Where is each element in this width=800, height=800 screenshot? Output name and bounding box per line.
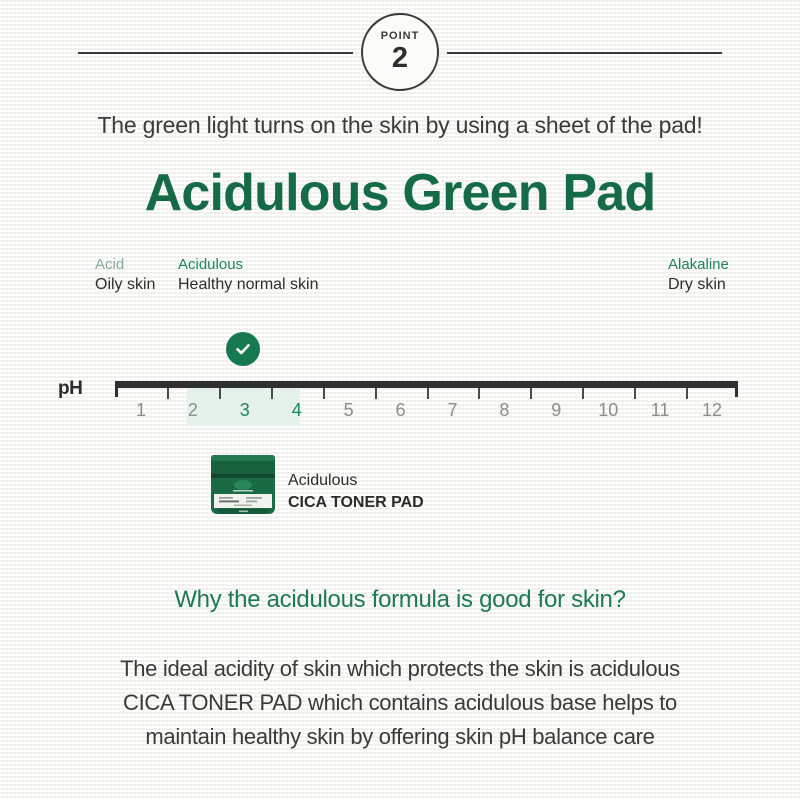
subtitle: The green light turns on the skin by usi… [0, 112, 800, 139]
product-caption-top: Acidulous [288, 470, 424, 492]
ph-tick-label: 1 [121, 400, 161, 421]
ph-tick [582, 388, 584, 399]
ph-tick-label: 8 [484, 400, 524, 421]
legend-item-acid: Acid Oily skin [95, 255, 155, 295]
ph-endcap-right [735, 381, 738, 397]
ph-tick [375, 388, 377, 399]
page-title: Acidulous Green Pad [0, 163, 800, 223]
point-badge-label: POINT [381, 31, 420, 42]
ph-tick [271, 388, 273, 399]
ph-tick-label: 9 [536, 400, 576, 421]
ph-tick-label: 7 [432, 400, 472, 421]
product-caption-bottom: CICA TONER PAD [288, 492, 424, 514]
product-jar-image [206, 452, 280, 520]
point-badge-number: 2 [392, 44, 408, 73]
ph-tick-label: 11 [640, 400, 680, 421]
ph-endcap-left [115, 381, 118, 397]
ph-scale-bar [115, 381, 738, 388]
legend-term: Acid [95, 255, 155, 274]
body-line: The ideal acidity of skin which protects… [0, 652, 800, 686]
ph-tick-label: 12 [692, 400, 732, 421]
ph-tick [478, 388, 480, 399]
body-line: CICA TONER PAD which contains acidulous … [0, 686, 800, 720]
ph-tick-label: 4 [277, 400, 317, 421]
ph-tick [634, 388, 636, 399]
ph-tick [219, 388, 221, 399]
body-paragraph: The ideal acidity of skin which protects… [0, 652, 800, 754]
ph-tick [530, 388, 532, 399]
ph-tick-label: 5 [329, 400, 369, 421]
check-icon [226, 332, 260, 366]
ph-tick-label: 2 [173, 400, 213, 421]
legend-term: Alakaline [668, 255, 729, 274]
ph-tick [427, 388, 429, 399]
ph-tick-label: 10 [588, 400, 628, 421]
ph-tick-label: 6 [381, 400, 421, 421]
divider-right [447, 52, 722, 54]
ph-tick [686, 388, 688, 399]
divider-left [78, 52, 353, 54]
product-info-page: POINT 2 The green light turns on the ski… [0, 0, 800, 800]
ph-legend: Acid Oily skin Acidulous Healthy normal … [0, 255, 800, 305]
legend-item-alkaline: Alakaline Dry skin [668, 255, 729, 295]
ph-tick [323, 388, 325, 399]
legend-description: Healthy normal skin [178, 274, 319, 295]
point-badge: POINT 2 [361, 13, 439, 91]
legend-term: Acidulous [178, 255, 319, 274]
product-caption: Acidulous CICA TONER PAD [288, 470, 424, 514]
body-line: maintain healthy skin by offering skin p… [0, 720, 800, 754]
ph-axis-label: pH [58, 378, 82, 400]
point-header: POINT 2 [0, 8, 800, 90]
section-question: Why the acidulous formula is good for sk… [0, 586, 800, 614]
legend-description: Dry skin [668, 274, 729, 295]
product-block: Acidulous CICA TONER PAD [206, 452, 426, 524]
ph-tick-label: 3 [225, 400, 265, 421]
legend-description: Oily skin [95, 274, 155, 295]
legend-item-acidulous: Acidulous Healthy normal skin [178, 255, 319, 295]
ph-tick [167, 388, 169, 399]
